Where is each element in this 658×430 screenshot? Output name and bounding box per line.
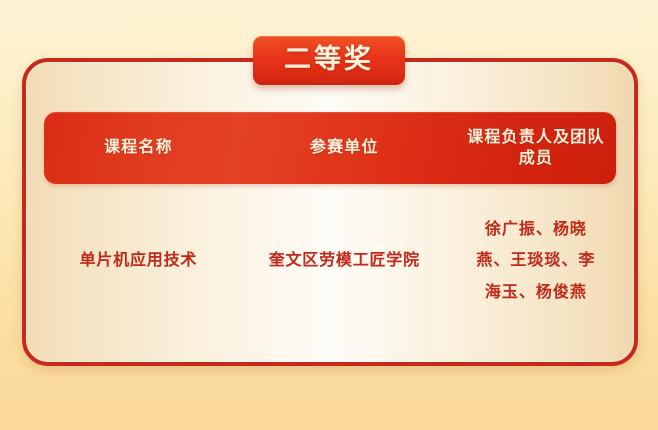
award-badge-label: 二等奖 [279,45,379,74]
header-cell-course-leader-team: 课程负责人及团队成员 [456,127,616,169]
cell-course-leader-team: 徐广振、杨晓燕、王琰琰、李海玉、杨俊燕 [456,214,616,308]
cell-participating-unit: 奎文区劳模工匠学院 [233,250,456,272]
table-row: 单片机应用技术 奎文区劳模工匠学院 徐广振、杨晓燕、王琰琰、李海玉、杨俊燕 [44,184,616,334]
award-table: 课程名称 参赛单位 课程负责人及团队成员 单片机应用技术 奎文区劳模工匠学院 徐… [44,112,616,336]
header-cell-participating-unit: 参赛单位 [233,137,456,158]
cell-course-name: 单片机应用技术 [44,250,233,272]
award-badge-container: 二等奖 [0,36,658,85]
award-badge: 二等奖 [253,36,405,85]
table-header-row: 课程名称 参赛单位 课程负责人及团队成员 [44,112,616,184]
header-cell-course-name: 课程名称 [44,137,233,158]
award-card: 课程名称 参赛单位 课程负责人及团队成员 单片机应用技术 奎文区劳模工匠学院 徐… [22,58,638,366]
award-poster: 二等奖 课程名称 参赛单位 课程负责人及团队成员 单片机应用技术 奎文区劳模工匠… [0,0,658,430]
